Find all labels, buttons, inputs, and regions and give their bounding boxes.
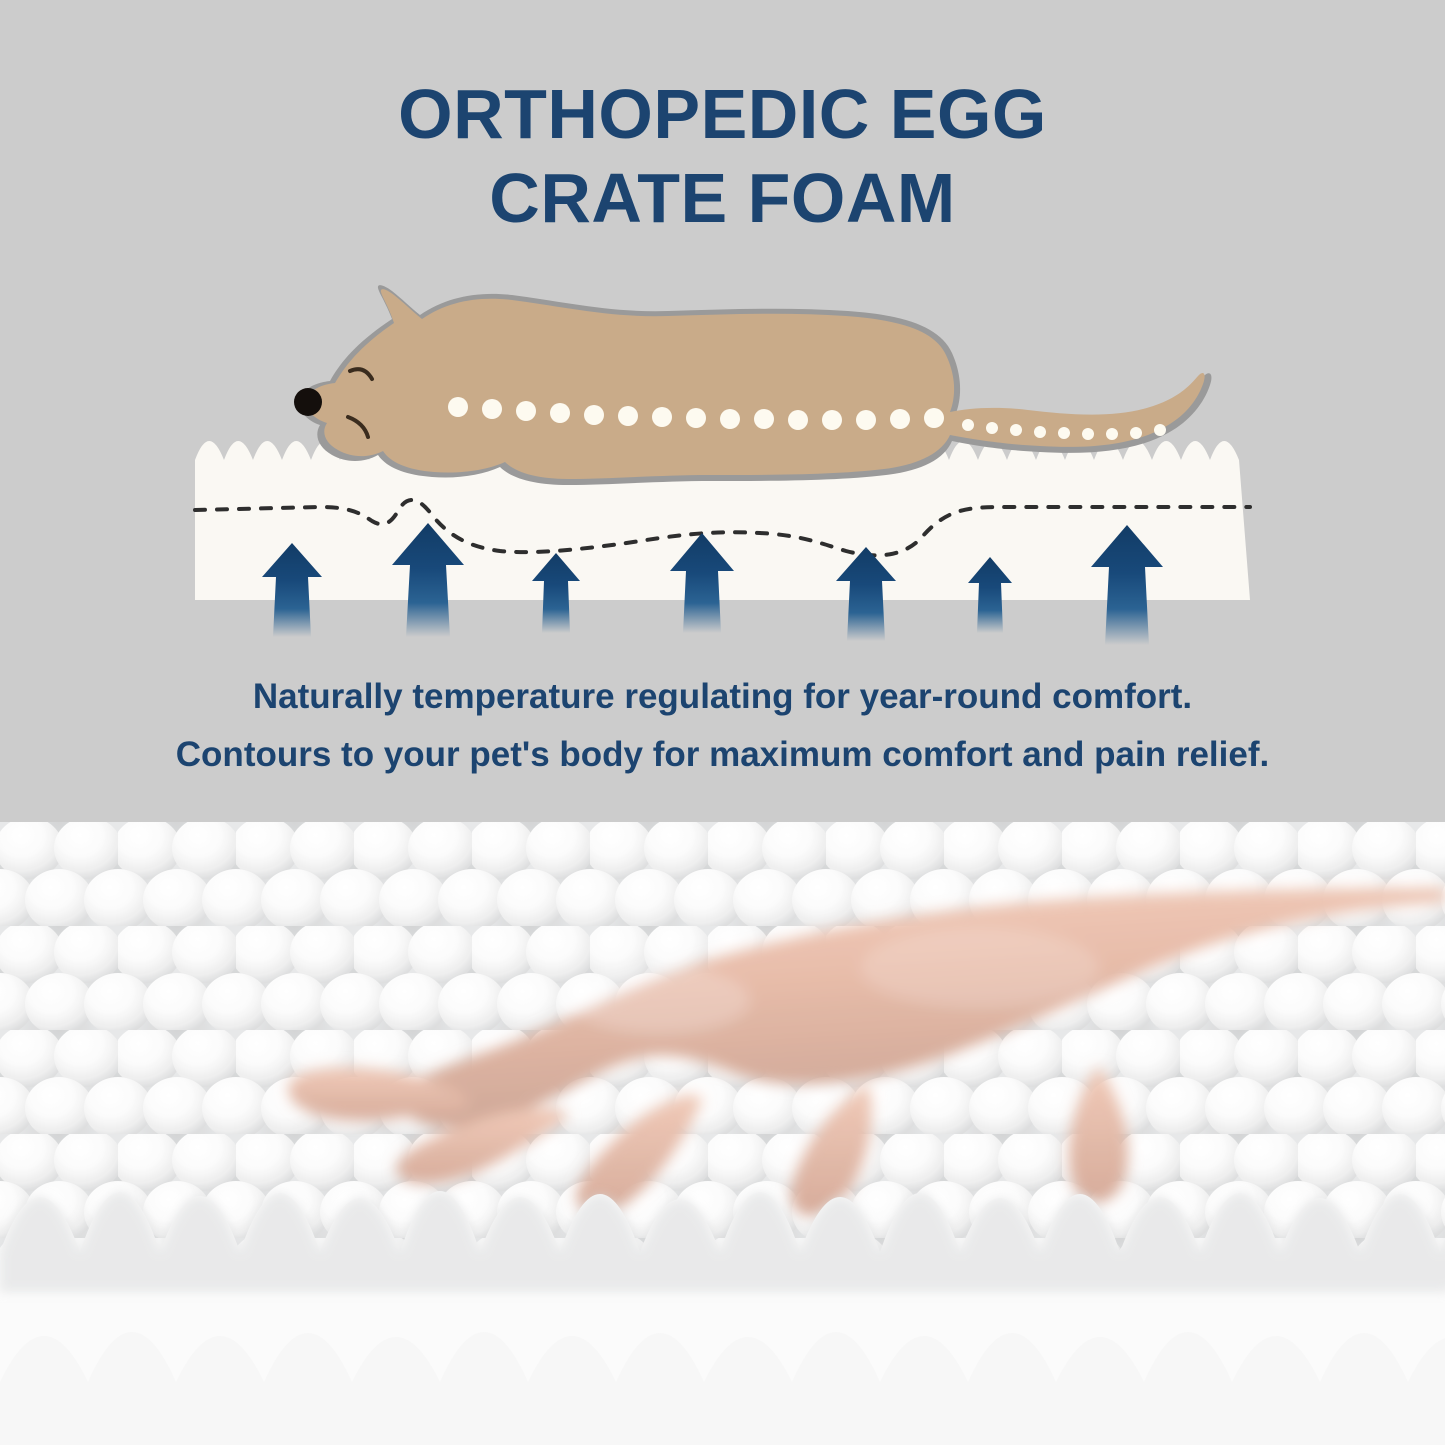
foam-support-illustration <box>0 285 1445 655</box>
caption-line-1: Naturally temperature regulating for yea… <box>0 668 1445 726</box>
caption-line-2: Contours to your pet's body for maximum … <box>0 726 1445 784</box>
product-infographic: ORTHOPEDIC EGG CRATE FOAM <box>0 0 1445 1445</box>
foam-texture-photo <box>0 822 1445 1445</box>
headline-line-1: ORTHOPEDIC EGG <box>0 72 1445 156</box>
headline-line-2: CRATE FOAM <box>0 156 1445 240</box>
feature-caption: Naturally temperature regulating for yea… <box>0 668 1445 784</box>
top-info-panel: ORTHOPEDIC EGG CRATE FOAM <box>0 0 1445 822</box>
foam-photo-svg <box>0 822 1445 1445</box>
illustration-svg <box>0 285 1445 655</box>
dog-nose-icon <box>294 388 322 416</box>
page-title: ORTHOPEDIC EGG CRATE FOAM <box>0 72 1445 240</box>
